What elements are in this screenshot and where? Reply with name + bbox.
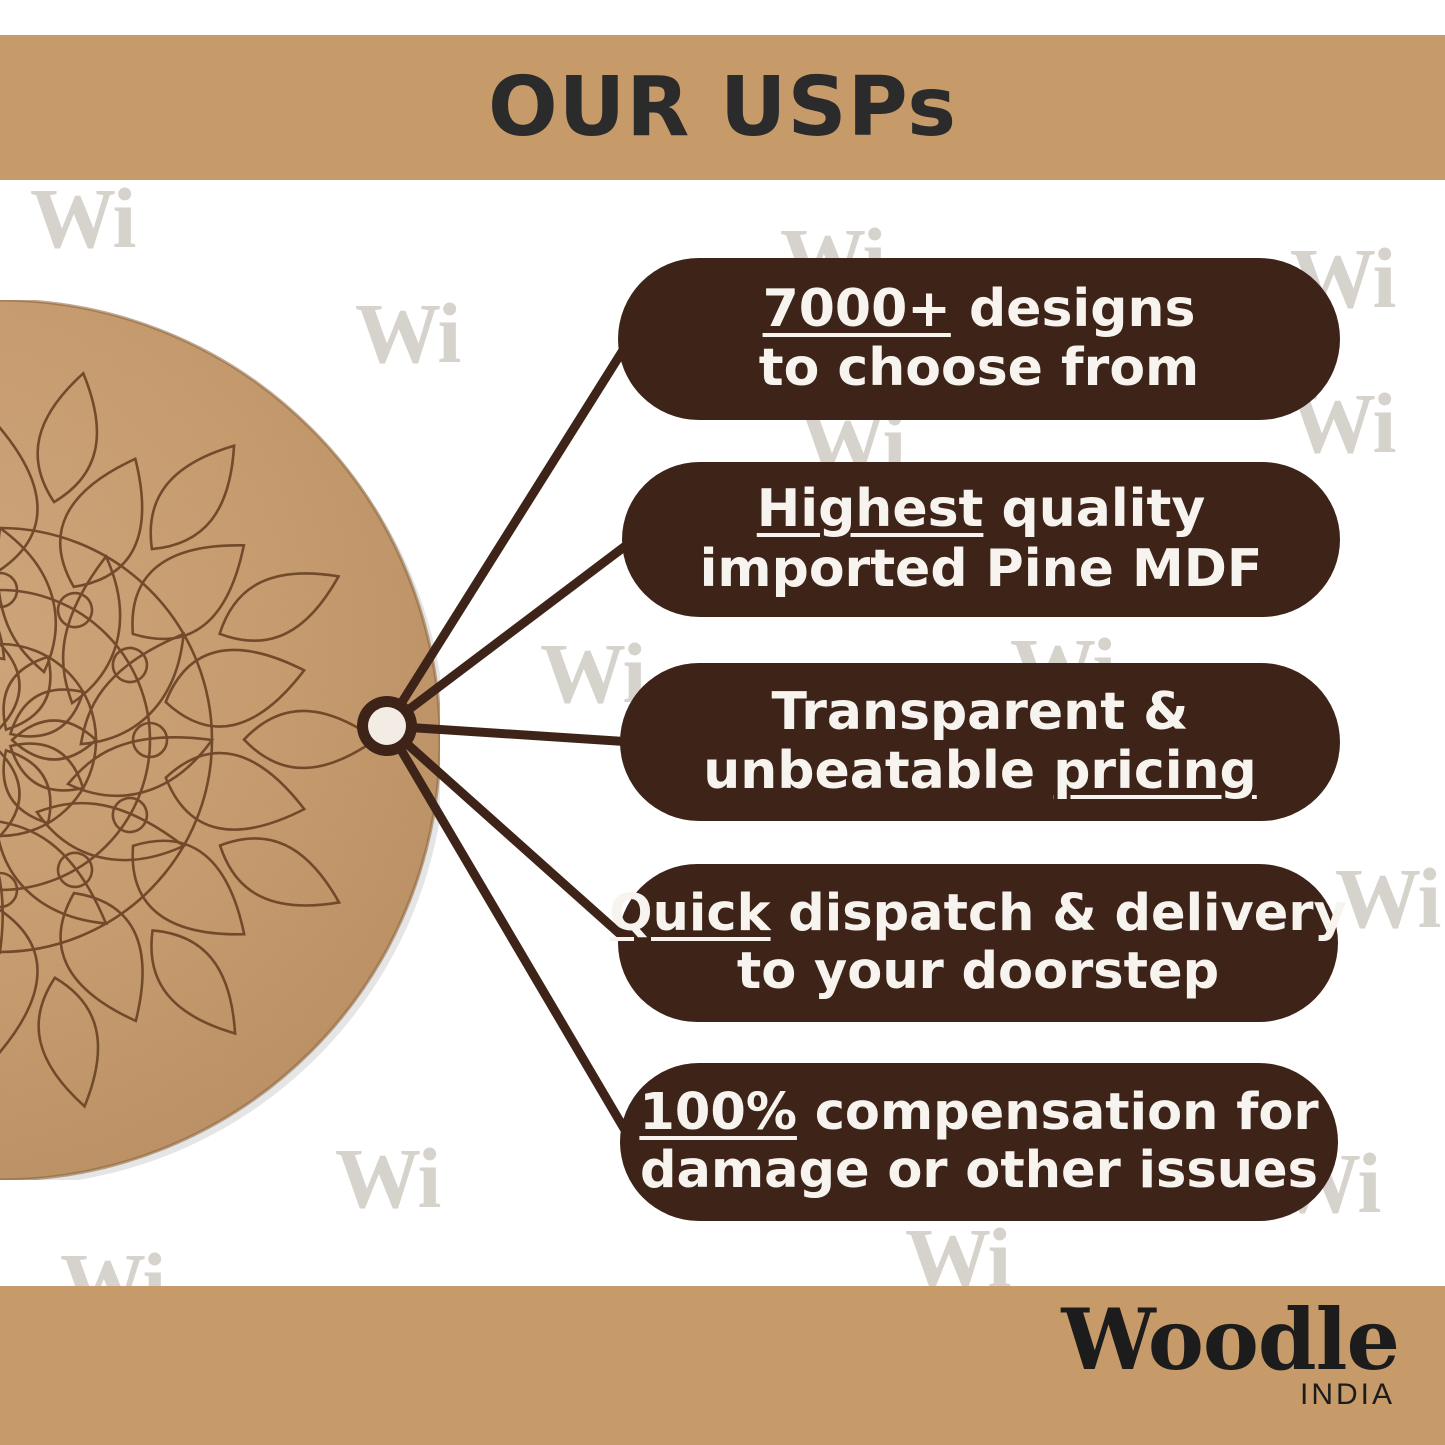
usp-highlight: 100% (639, 1083, 797, 1142)
usp-plain-text: imported Pine MDF (700, 539, 1263, 599)
footer-banner: Woodle INDIA (0, 1286, 1445, 1445)
usp-pill-quick-dispatch[interactable]: Quick dispatch & deliveryto your doorste… (618, 864, 1338, 1022)
usp-plain-text: to your doorstep (737, 942, 1219, 1001)
usp-plain-text: unbeatable (703, 741, 1053, 801)
usp-plain-text: compensation for (797, 1083, 1319, 1142)
usp-pill-designs-count[interactable]: 7000+ designsto choose from (618, 258, 1340, 420)
mdf-disc-svg (0, 300, 440, 1180)
usp-highlight: Highest (757, 479, 984, 539)
usp-text-line: Transparent & (771, 683, 1188, 742)
mandala-mdf-round-base (0, 300, 440, 1180)
usp-text-line: damage or other issues (640, 1142, 1318, 1200)
usp-text-line: Quick dispatch & delivery (609, 885, 1347, 943)
watermark-wi-icon: Wi (540, 630, 644, 716)
usp-text-line: 100% compensation for (639, 1084, 1318, 1142)
page-title: OUR USPs (0, 35, 1445, 180)
watermark-wi-icon: Wi (1335, 855, 1439, 941)
usp-plain-text: Transparent & (771, 682, 1188, 742)
brand-logo: Woodle INDIA (1061, 1300, 1399, 1412)
usp-plain-text: damage or other issues (640, 1141, 1318, 1200)
usp-text-line: to your doorstep (737, 943, 1219, 1001)
usp-plain-text: quality (983, 479, 1205, 539)
header-banner: OUR USPs (0, 35, 1445, 180)
usp-text-line: to choose from (759, 339, 1199, 398)
infographic-canvas: WiWiWiWiWiWiWiWiWiWiWiWiWi (0, 0, 1445, 1445)
usp-plain-text: to choose from (759, 338, 1199, 398)
usp-text-line: 7000+ designs (763, 280, 1196, 339)
usp-text-line: Highest quality (757, 480, 1206, 539)
usp-highlight: 7000+ (763, 279, 951, 339)
usp-text-line: imported Pine MDF (700, 540, 1263, 599)
usp-text-line: unbeatable pricing (703, 742, 1257, 801)
usp-plain-text: designs (951, 279, 1196, 339)
usp-pill-material-quality[interactable]: Highest qualityimported Pine MDF (622, 462, 1340, 617)
usp-pill-damage-compensation[interactable]: 100% compensation fordamage or other iss… (620, 1063, 1338, 1221)
usp-plain-text: dispatch & delivery (771, 884, 1347, 943)
watermark-wi-icon: Wi (30, 175, 134, 261)
usp-highlight: pricing (1053, 741, 1257, 801)
brand-wordmark: Woodle (1061, 1300, 1399, 1380)
usp-pill-transparent-pricing[interactable]: Transparent &unbeatable pricing (620, 663, 1340, 821)
usp-highlight: Quick (609, 884, 770, 943)
